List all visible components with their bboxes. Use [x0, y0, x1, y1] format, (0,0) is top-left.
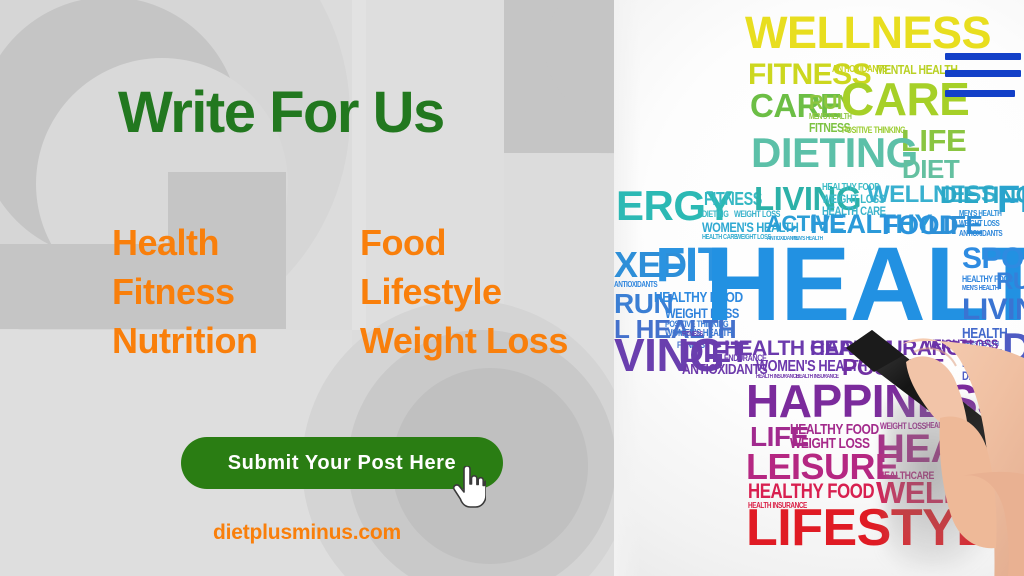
topic-item: Health	[112, 219, 257, 268]
word-cloud-word: WELLNESS	[745, 14, 991, 53]
topic-item: Nutrition	[112, 317, 257, 366]
topic-item: Lifestyle	[360, 268, 568, 317]
topic-item: Fitness	[112, 268, 257, 317]
topic-item: Food	[360, 219, 568, 268]
submit-post-button[interactable]: Submit Your Post Here	[181, 437, 503, 489]
word-cloud-word: MEN'S HEALTH	[962, 286, 999, 292]
word-cloud-word: DIETING	[702, 211, 728, 219]
word-cloud-word: DIET	[902, 158, 959, 180]
topic-column-right: Food Lifestyle Weight Loss	[360, 219, 568, 366]
word-cloud-image: WELLNESSFITNESSANTIOXIDANTSMENTAL HEALTH…	[614, 0, 1024, 576]
topic-item: Weight Loss	[360, 317, 568, 366]
topic-column-left: Health Fitness Nutrition	[112, 219, 257, 366]
blue-underline-mark	[945, 70, 1021, 77]
word-cloud-word: DIETING	[751, 135, 918, 171]
write-for-us-banner: Write For Us Health Fitness Nutrition Fo…	[0, 0, 1024, 576]
word-cloud-word: MEN'S HEALTH	[959, 211, 1001, 218]
blue-underline-mark	[945, 53, 1021, 60]
word-cloud-word: RUN	[996, 272, 1024, 293]
hand-holding-pen	[844, 300, 1024, 576]
page-title: Write For Us	[118, 84, 444, 142]
left-panel: Write For Us Health Fitness Nutrition Fo…	[0, 0, 614, 576]
site-url: dietplusminus.com	[0, 521, 614, 545]
left-content: Write For Us Health Fitness Nutrition Fo…	[0, 0, 614, 576]
word-cloud-word: CARE	[841, 80, 969, 120]
blue-underline-mark	[945, 90, 1015, 97]
